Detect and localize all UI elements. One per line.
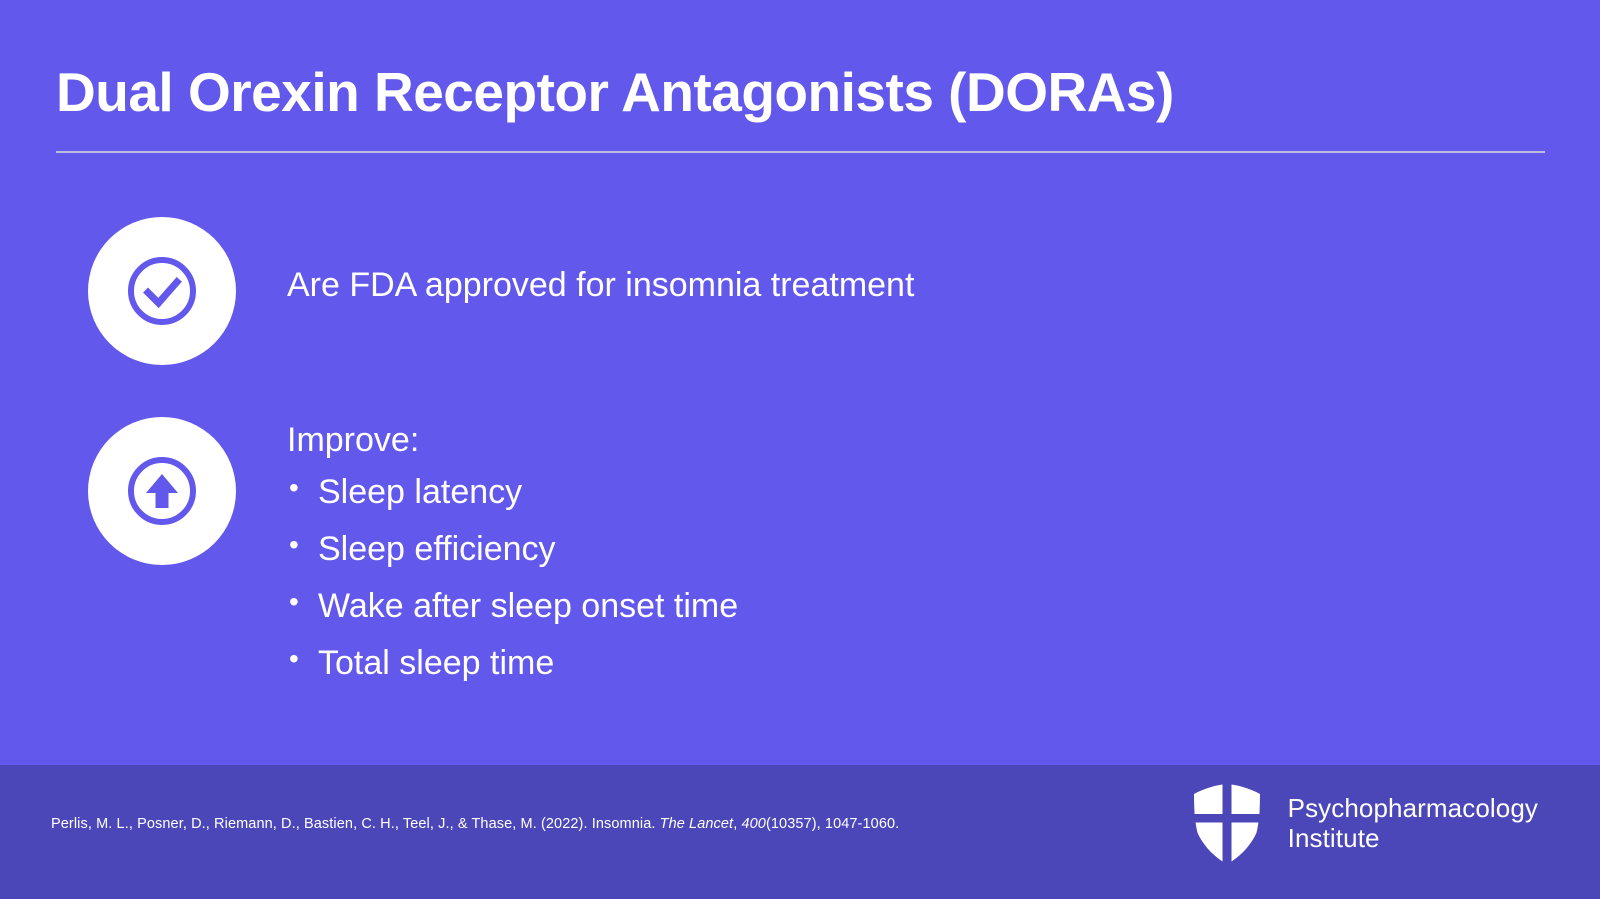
content-row-fda-approved: Are FDA approved for insomnia treatment: [88, 217, 914, 365]
list-item: Sleep efficiency: [287, 530, 738, 569]
list-item: Sleep latency: [287, 473, 738, 512]
citation-part-3: (10357), 1047-1060.: [766, 816, 899, 832]
title-block: Dual Orexin Receptor Antagonists (DORAs): [56, 62, 1546, 123]
brand-logo-text: Psychopharmacology Institute: [1288, 793, 1538, 853]
citation-part-1: Perlis, M. L., Posner, D., Riemann, D., …: [51, 816, 660, 832]
improve-bullet-list: Sleep latency Sleep efficiency Wake afte…: [287, 473, 738, 683]
citation-volume: 400: [741, 816, 766, 832]
slide: Dual Orexin Receptor Antagonists (DORAs)…: [0, 0, 1600, 899]
page-title: Dual Orexin Receptor Antagonists (DORAs): [56, 62, 1546, 123]
list-item: Total sleep time: [287, 644, 738, 683]
shield-icon: [1190, 781, 1264, 865]
brand-name-line-2: Institute: [1288, 823, 1538, 853]
brand-logo: Psychopharmacology Institute: [1190, 781, 1538, 865]
row-text-fda-approved: Are FDA approved for insomnia treatment: [287, 217, 914, 307]
list-item: Wake after sleep onset time: [287, 587, 738, 626]
content-row-improve: Improve: Sleep latency Sleep efficiency …: [88, 417, 738, 683]
citation-journal: The Lancet: [660, 816, 734, 832]
footer-bar: Perlis, M. L., Posner, D., Riemann, D., …: [0, 765, 1600, 899]
check-circle-icon: [88, 217, 236, 365]
row-text-improve: Improve: Sleep latency Sleep efficiency …: [287, 417, 738, 683]
title-divider: [56, 151, 1545, 153]
improve-lead-label: Improve:: [287, 420, 738, 461]
citation-text: Perlis, M. L., Posner, D., Riemann, D., …: [51, 815, 899, 834]
arrow-up-circle-icon: [88, 417, 236, 565]
brand-name-line-1: Psychopharmacology: [1288, 793, 1538, 823]
